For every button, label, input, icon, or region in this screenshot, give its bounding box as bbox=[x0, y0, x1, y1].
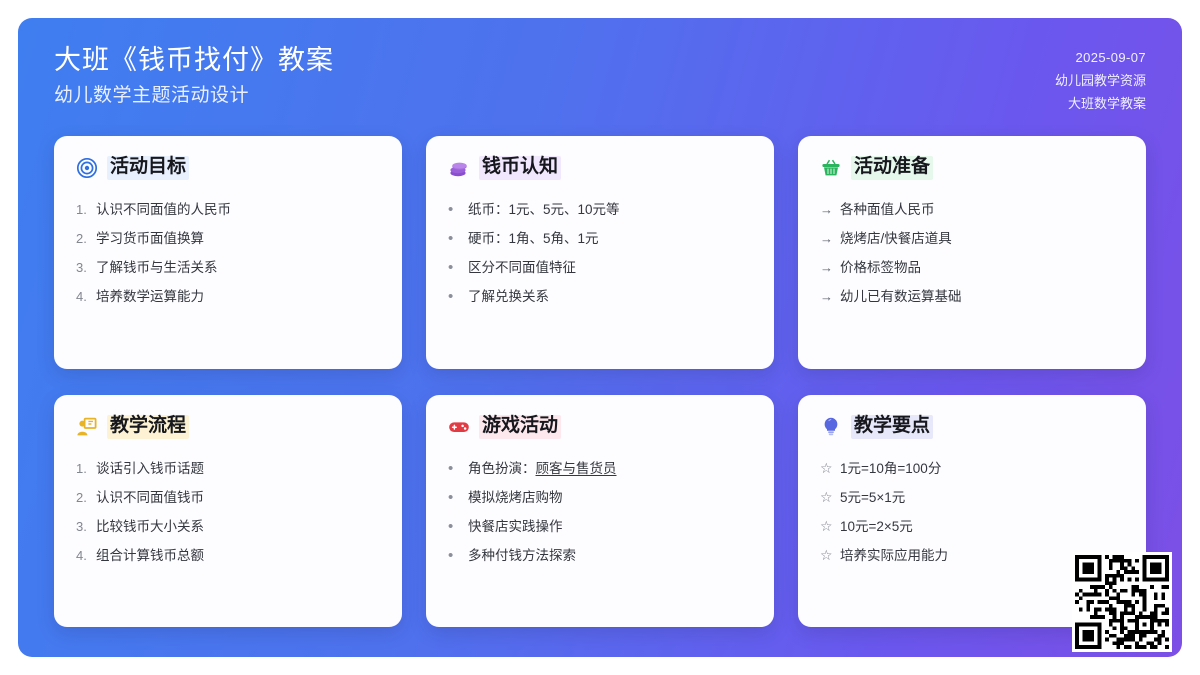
list-item: ☆1元=10角=100分 bbox=[820, 455, 1124, 482]
list-item: 2.认识不同面值钱币 bbox=[76, 484, 380, 511]
list-item-text: 组合计算钱币总额 bbox=[96, 542, 204, 569]
page-title: 大班《钱币找付》教案 bbox=[54, 44, 334, 78]
list-item-emphasis[interactable]: 顾客与售货员 bbox=[536, 461, 617, 476]
list-marker: 2. bbox=[76, 225, 89, 252]
list-marker: ☆ bbox=[820, 513, 833, 540]
list-item-text: 角色扮演：顾客与售货员 bbox=[468, 455, 617, 482]
list-item: •模拟烧烤店购物 bbox=[448, 484, 752, 511]
list-item: •纸币：1元、5元、10元等 bbox=[448, 196, 752, 223]
qr-code[interactable] bbox=[1072, 552, 1172, 652]
list-item-text: 纸币：1元、5元、10元等 bbox=[468, 196, 620, 223]
coins-stack-icon bbox=[448, 157, 470, 179]
list-item-text: 多种付钱方法探索 bbox=[468, 542, 576, 569]
list-item-text: 5元=5×1元 bbox=[840, 484, 905, 511]
list-item: →烧烤店/快餐店道具 bbox=[820, 225, 1124, 252]
list-item: •区分不同面值特征 bbox=[448, 254, 752, 281]
list-marker: • bbox=[448, 513, 461, 540]
header-meta: 2025-09-07 幼儿园教学资源 大班数学教案 bbox=[1055, 44, 1146, 114]
page-header: 大班《钱币找付》教案 幼儿数学主题活动设计 2025-09-07 幼儿园教学资源… bbox=[18, 18, 1182, 132]
list-item: •角色扮演：顾客与售货员 bbox=[448, 455, 752, 482]
list-marker: 3. bbox=[76, 254, 89, 281]
list-item-text: 认识不同面值钱币 bbox=[96, 484, 204, 511]
card-teaching-process: 教学流程1.谈话引入钱币话题2.认识不同面值钱币3.比较钱币大小关系4.组合计算… bbox=[54, 395, 402, 627]
list-item-text: 培养数学运算能力 bbox=[96, 283, 204, 310]
list-item: •硬币：1角、5角、1元 bbox=[448, 225, 752, 252]
list-item: 3.比较钱币大小关系 bbox=[76, 513, 380, 540]
list-item: 4.培养数学运算能力 bbox=[76, 283, 380, 310]
card-title: 游戏活动 bbox=[479, 415, 561, 439]
list-item-text: 了解兑换关系 bbox=[468, 283, 549, 310]
card-header: 钱币认知 bbox=[448, 156, 752, 180]
list-marker: → bbox=[820, 225, 833, 252]
list-item: •了解兑换关系 bbox=[448, 283, 752, 310]
document-page: 大班《钱币找付》教案 幼儿数学主题活动设计 2025-09-07 幼儿园教学资源… bbox=[18, 18, 1182, 657]
shopping-basket-icon bbox=[820, 157, 842, 179]
list-item: •快餐店实践操作 bbox=[448, 513, 752, 540]
list-item-text: 价格标签物品 bbox=[840, 254, 921, 281]
list-item: 4.组合计算钱币总额 bbox=[76, 542, 380, 569]
teacher-board-icon bbox=[76, 416, 98, 438]
list-marker: • bbox=[448, 196, 461, 223]
list-item: →价格标签物品 bbox=[820, 254, 1124, 281]
card-money-cognition: 钱币认知•纸币：1元、5元、10元等•硬币：1角、5角、1元•区分不同面值特征•… bbox=[426, 136, 774, 368]
list-marker: → bbox=[820, 254, 833, 281]
list-marker: • bbox=[448, 225, 461, 252]
meta-category: 大班数学教案 bbox=[1068, 94, 1146, 114]
list-item: 1.谈话引入钱币话题 bbox=[76, 455, 380, 482]
list-item: ☆10元=2×5元 bbox=[820, 513, 1124, 540]
card-header: 教学要点 bbox=[820, 415, 1124, 439]
list-marker: ☆ bbox=[820, 484, 833, 511]
list-item-text: 区分不同面值特征 bbox=[468, 254, 576, 281]
list-marker: 1. bbox=[76, 196, 89, 223]
list-marker: • bbox=[448, 455, 461, 482]
list-item-text: 比较钱币大小关系 bbox=[96, 513, 204, 540]
page-subtitle: 幼儿数学主题活动设计 bbox=[54, 84, 334, 109]
card-item-list: 1.认识不同面值的人民币2.学习货币面值换算3.了解钱币与生活关系4.培养数学运… bbox=[76, 196, 380, 310]
list-item-text: 学习货币面值换算 bbox=[96, 225, 204, 252]
card-header: 游戏活动 bbox=[448, 415, 752, 439]
card-header: 活动准备 bbox=[820, 156, 1124, 180]
list-marker: ☆ bbox=[820, 542, 833, 569]
list-item: 1.认识不同面值的人民币 bbox=[76, 196, 380, 223]
list-marker: • bbox=[448, 484, 461, 511]
card-activity-preparation: 活动准备→各种面值人民币→烧烤店/快餐店道具→价格标签物品→幼儿已有数运算基础 bbox=[798, 136, 1146, 368]
list-item-text: 硬币：1角、5角、1元 bbox=[468, 225, 599, 252]
card-game-activity: 游戏活动•角色扮演：顾客与售货员•模拟烧烤店购物•快餐店实践操作•多种付钱方法探… bbox=[426, 395, 774, 627]
card-title: 钱币认知 bbox=[479, 156, 561, 180]
list-item: →幼儿已有数运算基础 bbox=[820, 283, 1124, 310]
list-marker: • bbox=[448, 283, 461, 310]
gamepad-icon bbox=[448, 416, 470, 438]
list-item-text: 烧烤店/快餐店道具 bbox=[840, 225, 952, 252]
list-item-text: 快餐店实践操作 bbox=[468, 513, 563, 540]
list-marker: • bbox=[448, 542, 461, 569]
list-marker: ☆ bbox=[820, 455, 833, 482]
target-icon bbox=[76, 157, 98, 179]
list-item-text: 10元=2×5元 bbox=[840, 513, 913, 540]
list-marker: 1. bbox=[76, 455, 89, 482]
card-title: 活动目标 bbox=[107, 156, 189, 180]
card-item-list: •角色扮演：顾客与售货员•模拟烧烤店购物•快餐店实践操作•多种付钱方法探索 bbox=[448, 455, 752, 569]
card-header: 教学流程 bbox=[76, 415, 380, 439]
list-item: ☆5元=5×1元 bbox=[820, 484, 1124, 511]
list-marker: 3. bbox=[76, 513, 89, 540]
list-marker: → bbox=[820, 283, 833, 310]
list-item: →各种面值人民币 bbox=[820, 196, 1124, 223]
list-marker: 2. bbox=[76, 484, 89, 511]
meta-source: 幼儿园教学资源 bbox=[1055, 71, 1146, 91]
list-item: 3.了解钱币与生活关系 bbox=[76, 254, 380, 281]
list-item-text: 谈话引入钱币话题 bbox=[96, 455, 204, 482]
list-marker: 4. bbox=[76, 283, 89, 310]
lightbulb-icon bbox=[820, 416, 842, 438]
list-item-text: 幼儿已有数运算基础 bbox=[840, 283, 962, 310]
list-item-label: 角色扮演： bbox=[468, 461, 536, 476]
card-title: 教学流程 bbox=[107, 415, 189, 439]
card-item-list: 1.谈话引入钱币话题2.认识不同面值钱币3.比较钱币大小关系4.组合计算钱币总额 bbox=[76, 455, 380, 569]
list-marker: • bbox=[448, 254, 461, 281]
list-item-text: 认识不同面值的人民币 bbox=[96, 196, 231, 223]
list-item: 2.学习货币面值换算 bbox=[76, 225, 380, 252]
card-item-list: •纸币：1元、5元、10元等•硬币：1角、5角、1元•区分不同面值特征•了解兑换… bbox=[448, 196, 752, 310]
list-item-text: 培养实际应用能力 bbox=[840, 542, 948, 569]
card-activity-goals: 活动目标1.认识不同面值的人民币2.学习货币面值换算3.了解钱币与生活关系4.培… bbox=[54, 136, 402, 368]
card-header: 活动目标 bbox=[76, 156, 380, 180]
card-item-list: →各种面值人民币→烧烤店/快餐店道具→价格标签物品→幼儿已有数运算基础 bbox=[820, 196, 1124, 310]
list-item-text: 1元=10角=100分 bbox=[840, 455, 941, 482]
list-item: •多种付钱方法探索 bbox=[448, 542, 752, 569]
card-title: 教学要点 bbox=[851, 415, 933, 439]
list-item-text: 了解钱币与生活关系 bbox=[96, 254, 218, 281]
list-item-text: 模拟烧烤店购物 bbox=[468, 484, 563, 511]
header-title-group: 大班《钱币找付》教案 幼儿数学主题活动设计 bbox=[54, 44, 334, 108]
list-marker: → bbox=[820, 196, 833, 223]
card-title: 活动准备 bbox=[851, 156, 933, 180]
meta-date: 2025-09-07 bbox=[1076, 48, 1147, 68]
list-marker: 4. bbox=[76, 542, 89, 569]
list-item-text: 各种面值人民币 bbox=[840, 196, 935, 223]
card-grid: 活动目标1.认识不同面值的人民币2.学习货币面值换算3.了解钱币与生活关系4.培… bbox=[18, 132, 1182, 657]
